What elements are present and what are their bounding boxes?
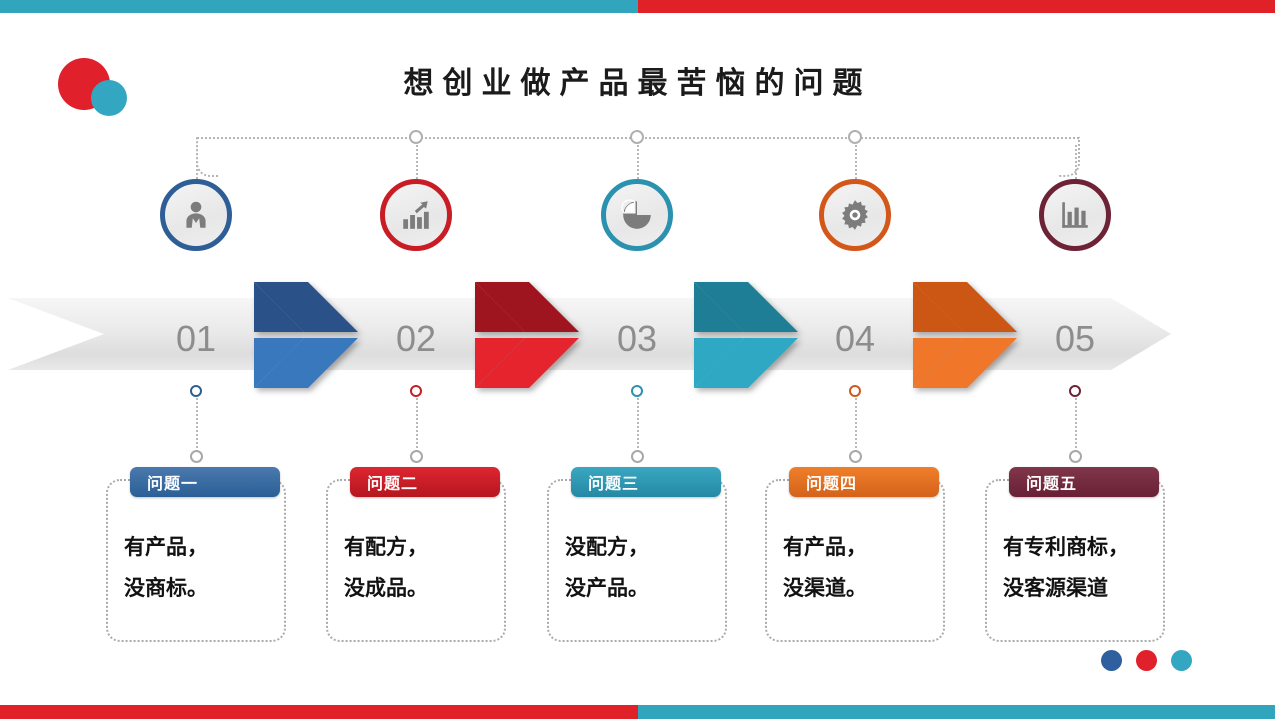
page-title: 想创业做产品最苦恼的问题 <box>0 58 1275 102</box>
step-stem-down-01 <box>196 398 198 452</box>
problem-card-body: 没配方，没产品。 <box>549 527 725 609</box>
problem-card-line: 没成品。 <box>344 568 488 609</box>
problem-card[interactable]: 问题五有专利商标，没客源渠道 <box>985 479 1165 642</box>
card-anchor-dot-05 <box>1069 450 1082 463</box>
step-stem-down-05 <box>1075 398 1077 452</box>
step-icon-circle-02[interactable] <box>380 179 452 251</box>
corner-decoration-dots <box>1101 650 1192 671</box>
dot-red <box>1136 650 1157 671</box>
step-dot-01 <box>190 385 202 397</box>
step-number-03: 03 <box>577 318 697 360</box>
problem-card-line: 没配方， <box>565 527 709 568</box>
problem-card-line: 没渠道。 <box>783 568 927 609</box>
problem-card-label: 问题五 <box>1009 467 1159 497</box>
problem-card-line: 有产品， <box>124 527 268 568</box>
card-anchor-dot-01 <box>190 450 203 463</box>
rail-stem-05 <box>1075 145 1077 179</box>
gear-icon <box>838 198 872 232</box>
step-icon-circle-04[interactable] <box>819 179 891 251</box>
step-dot-02 <box>410 385 422 397</box>
chevron-04-to-05 <box>911 280 1019 390</box>
problem-card-label: 问题三 <box>571 467 721 497</box>
step-stem-down-03 <box>637 398 639 452</box>
problem-card-line: 没客源渠道 <box>1003 568 1147 609</box>
card-anchor-dot-04 <box>849 450 862 463</box>
pie-chart-icon <box>620 198 654 232</box>
step-dot-05 <box>1069 385 1081 397</box>
top-accent-bar-right <box>638 0 1275 13</box>
problem-card-line: 没产品。 <box>565 568 709 609</box>
rail-node-02 <box>409 130 423 144</box>
problem-card-body: 有产品，没商标。 <box>108 527 284 609</box>
problem-card[interactable]: 问题四有产品，没渠道。 <box>765 479 945 642</box>
chevron-02-to-03 <box>473 280 581 390</box>
problem-card[interactable]: 问题二有配方，没成品。 <box>326 479 506 642</box>
card-anchor-dot-03 <box>631 450 644 463</box>
chevron-01-to-02 <box>252 280 360 390</box>
step-number-02: 02 <box>356 318 476 360</box>
problem-card[interactable]: 问题三没配方，没产品。 <box>547 479 727 642</box>
problem-card-line: 没商标。 <box>124 568 268 609</box>
problem-card-body: 有配方，没成品。 <box>328 527 504 609</box>
step-number-01: 01 <box>136 318 256 360</box>
rail-cap-left <box>196 137 218 177</box>
problem-card[interactable]: 问题一有产品，没商标。 <box>106 479 286 642</box>
rail-stem-02 <box>416 145 418 179</box>
step-number-04: 04 <box>795 318 915 360</box>
rail-node-03 <box>630 130 644 144</box>
problem-card-label: 问题一 <box>130 467 280 497</box>
businessman-icon <box>179 198 213 232</box>
problem-card-label: 问题二 <box>350 467 500 497</box>
dot-blue <box>1101 650 1122 671</box>
problem-card-line: 有配方， <box>344 527 488 568</box>
step-number-05: 05 <box>1015 318 1135 360</box>
problem-card-body: 有专利商标，没客源渠道 <box>987 527 1163 609</box>
problem-card-body: 有产品，没渠道。 <box>767 527 943 609</box>
rail-node-04 <box>848 130 862 144</box>
step-dot-03 <box>631 385 643 397</box>
step-icon-circle-05[interactable] <box>1039 179 1111 251</box>
problem-card-line: 有专利商标， <box>1003 527 1147 568</box>
growth-bar-chart-icon <box>399 198 433 232</box>
bottom-accent-bar <box>0 705 1275 719</box>
rail-stem-04 <box>855 145 857 179</box>
top-accent-bar-left <box>0 0 638 13</box>
card-anchor-dot-02 <box>410 450 423 463</box>
problem-card-label: 问题四 <box>789 467 939 497</box>
step-stem-down-02 <box>416 398 418 452</box>
rail-stem-03 <box>637 145 639 179</box>
bottom-accent-bar-right <box>638 705 1275 719</box>
step-icon-circle-03[interactable] <box>601 179 673 251</box>
problem-card-line: 有产品， <box>783 527 927 568</box>
step-icon-circle-01[interactable] <box>160 179 232 251</box>
rail-stem-01 <box>196 145 198 179</box>
step-stem-down-04 <box>855 398 857 452</box>
step-dot-04 <box>849 385 861 397</box>
dot-teal <box>1171 650 1192 671</box>
bottom-accent-bar-left <box>0 705 638 719</box>
bar-chart-axis-icon <box>1058 198 1092 232</box>
top-accent-bar <box>0 0 1275 13</box>
chevron-03-to-04 <box>692 280 800 390</box>
